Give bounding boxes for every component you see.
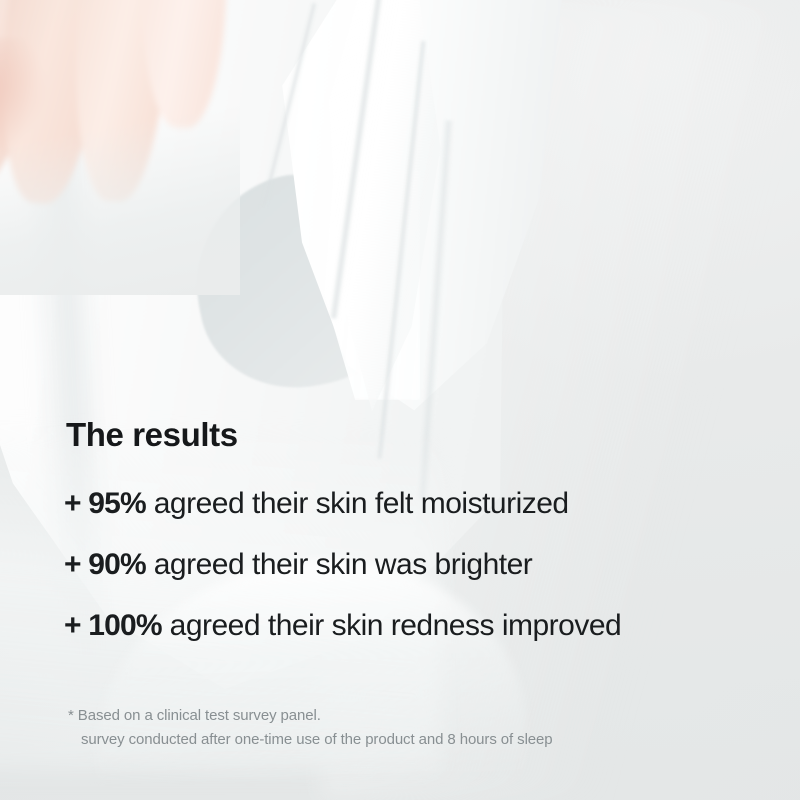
claim-metric: + 90% [64,548,146,581]
claim-item: + 100% agreed their skin redness improve… [64,609,764,643]
claim-text: agreed their skin was brighter [146,548,532,581]
footnote: * Based on a clinical test survey panel.… [68,704,553,753]
claim-metric: + 95% [64,487,146,520]
results-headline: The results [66,416,238,454]
footnote-line-1: * Based on a clinical test survey panel. [68,707,321,724]
text-overlay: The results + 95% agreed their skin felt… [0,0,800,800]
footnote-line-2: survey conducted after one-time use of t… [68,728,553,752]
claim-item: + 90% agreed their skin was brighter [64,548,764,582]
claim-metric: + 100% [64,609,162,642]
product-claim-image: The results + 95% agreed their skin felt… [0,0,800,800]
claim-text: agreed their skin redness improved [162,609,621,642]
claims-list: + 95% agreed their skin felt moisturized… [64,487,764,670]
claim-item: + 95% agreed their skin felt moisturized [64,487,764,521]
claim-text: agreed their skin felt moisturized [146,487,569,520]
